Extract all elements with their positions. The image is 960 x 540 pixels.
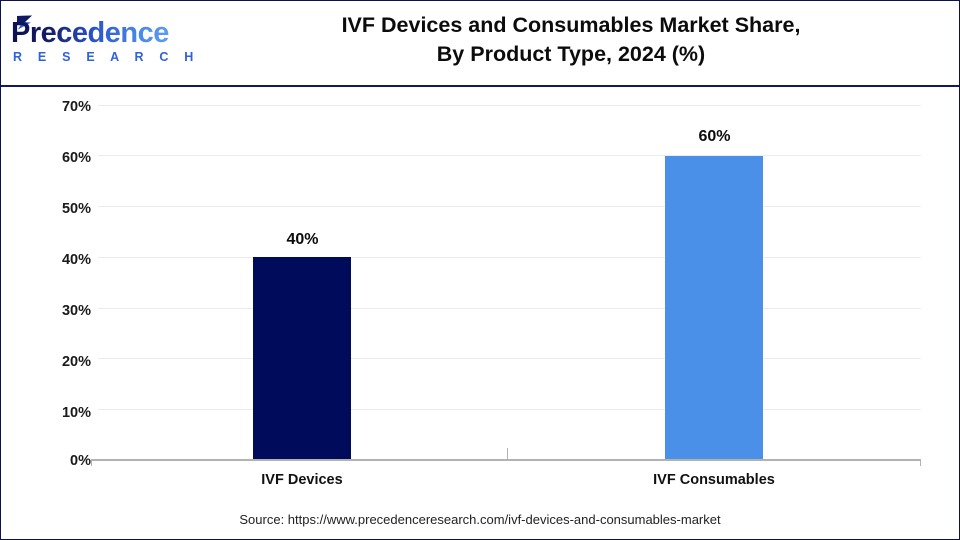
gridline-70 (98, 105, 921, 106)
x-axis-baseline (91, 459, 921, 461)
plot-area (98, 105, 921, 460)
gridline-40 (98, 257, 921, 258)
gridline-50 (98, 206, 921, 207)
gridline-20 (98, 358, 921, 359)
y-axis-label-20: 20% (33, 355, 91, 369)
y-axis: 70% 60% 50% 40% 30% 20% 10% 0% (21, 1, 91, 540)
header-bar: Precedence R E S E A R C H IVF Devices a… (1, 1, 959, 87)
title-line-2: By Product Type, 2024 (%) (191, 40, 951, 69)
bar-value-ivf-consumables: 60% (664, 128, 765, 146)
y-axis-label-50: 50% (33, 202, 91, 216)
x-axis-label-ivf-devices: IVF Devices (202, 472, 402, 488)
x-axis-label-ivf-consumables: IVF Consumables (614, 472, 814, 488)
bar-ivf-consumables[interactable] (665, 156, 763, 460)
source-note: Source: https://www.precedenceresearch.c… (1, 512, 959, 527)
gridline-30 (98, 308, 921, 309)
axis-tick-middle (507, 448, 508, 461)
y-axis-label-30: 30% (33, 304, 91, 318)
y-axis-label-0: 0% (33, 454, 91, 468)
bar-ivf-devices[interactable] (253, 257, 351, 460)
title-line-1: IVF Devices and Consumables Market Share… (342, 13, 801, 37)
bar-value-ivf-devices: 40% (252, 231, 353, 249)
y-axis-label-40: 40% (33, 253, 91, 267)
y-axis-label-10: 10% (33, 406, 91, 420)
page-title: IVF Devices and Consumables Market Share… (191, 11, 951, 69)
chart-page: Precedence R E S E A R C H IVF Devices a… (0, 0, 960, 540)
y-axis-label-60: 60% (33, 151, 91, 165)
gridline-60 (98, 155, 921, 156)
y-axis-label-70: 70% (33, 100, 91, 114)
axis-tick-left (91, 460, 92, 466)
gridline-10 (98, 409, 921, 410)
axis-tick-right (920, 460, 921, 466)
